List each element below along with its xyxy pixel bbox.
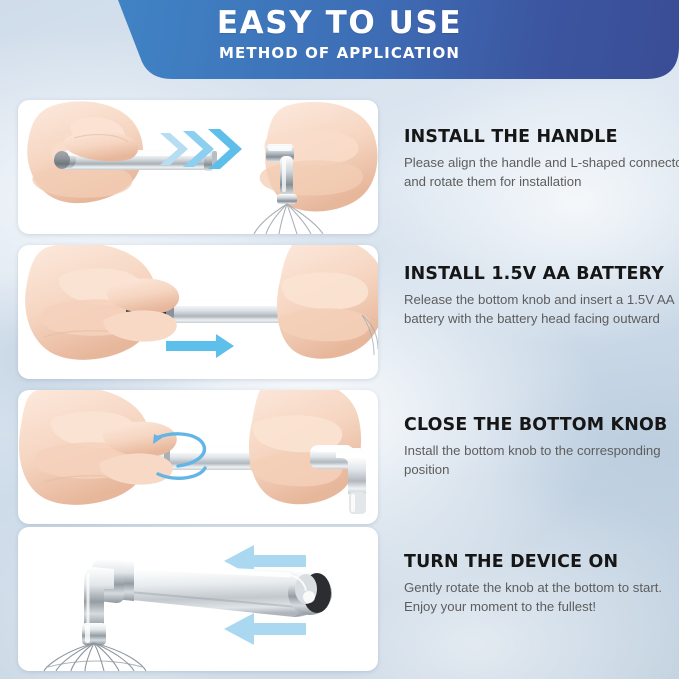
step-2-heading: INSTALL 1.5V AA BATTERY xyxy=(404,264,679,284)
whisk-wires xyxy=(44,643,146,671)
step-3-text: CLOSE THE BOTTOM KNOB Install the bottom… xyxy=(404,415,679,479)
step-1-text: INSTALL THE HANDLE Please align the hand… xyxy=(404,127,679,191)
step-2-description: Release the bottom knob and insert a 1.5… xyxy=(404,291,679,328)
step-close-bottom-knob: CLOSE THE BOTTOM KNOB Install the bottom… xyxy=(18,390,679,524)
illustration-install-handle xyxy=(18,100,378,234)
step-4-description: Gently rotate the knob at the bottom to … xyxy=(404,579,679,616)
illustration-assembled-device xyxy=(18,527,378,671)
step-3-illustration-panel xyxy=(18,390,378,524)
arrow-left-bottom xyxy=(224,613,306,645)
header-banner-content: EASY TO USE METHOD OF APPLICATION xyxy=(0,0,679,79)
step-1-heading: INSTALL THE HANDLE xyxy=(404,127,679,147)
device-body xyxy=(110,563,314,617)
step-2-text: INSTALL 1.5V AA BATTERY Release the bott… xyxy=(404,264,679,328)
step-3-description: Install the bottom knob to the correspon… xyxy=(404,442,679,479)
page-subtitle: METHOD OF APPLICATION xyxy=(219,44,460,62)
step-1-illustration-panel xyxy=(18,100,378,234)
arrow-right xyxy=(166,334,234,358)
right-hand xyxy=(277,245,378,359)
step-install-the-handle: INSTALL THE HANDLE Please align the hand… xyxy=(18,100,679,234)
l-shaped-elbow xyxy=(82,567,114,645)
step-4-heading: TURN THE DEVICE ON xyxy=(404,552,679,572)
step-turn-device-on: TURN THE DEVICE ON Gently rotate the kno… xyxy=(18,527,679,671)
step-2-illustration-panel xyxy=(18,245,378,379)
illustration-install-battery xyxy=(18,245,378,379)
step-4-text: TURN THE DEVICE ON Gently rotate the kno… xyxy=(404,552,679,616)
step-1-description: Please align the handle and L-shaped con… xyxy=(404,154,679,191)
step-3-heading: CLOSE THE BOTTOM KNOB xyxy=(404,415,679,435)
step-install-battery: INSTALL 1.5V AA BATTERY Release the bott… xyxy=(18,245,679,379)
illustration-close-knob xyxy=(18,390,378,524)
step-4-illustration-panel xyxy=(18,527,378,671)
page-title: EASY TO USE xyxy=(217,7,462,40)
